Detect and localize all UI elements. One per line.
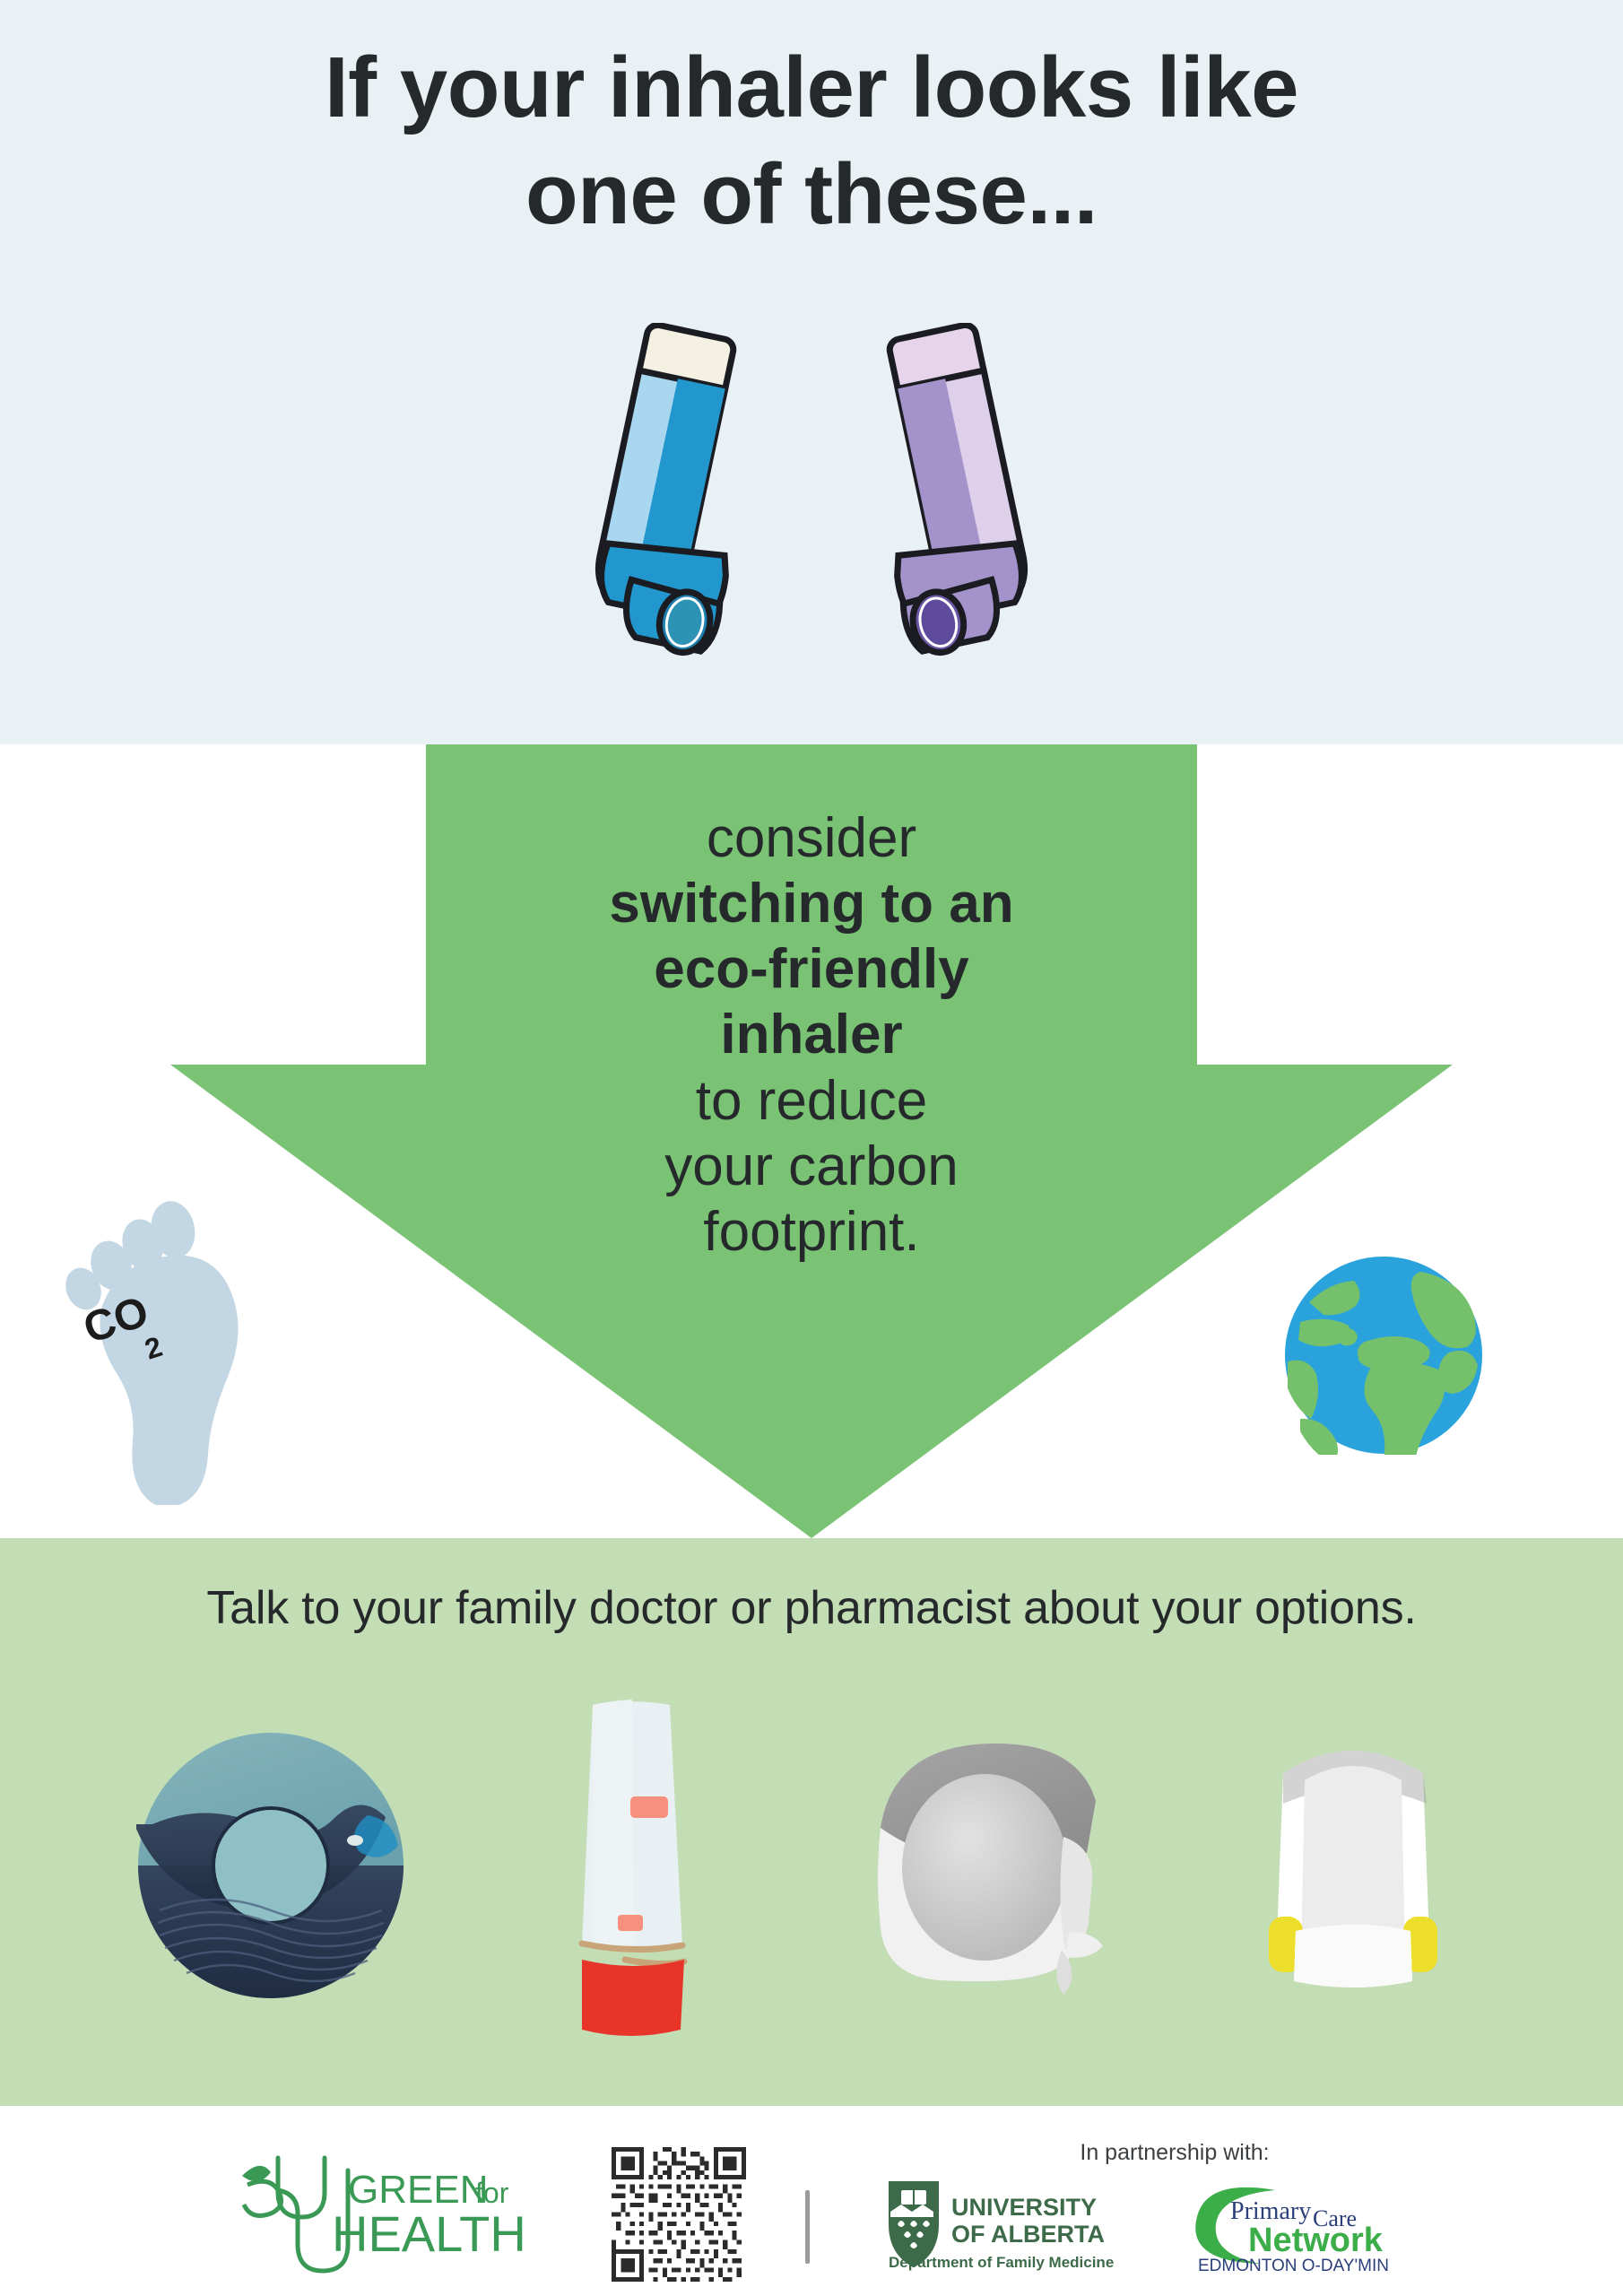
earth-globe-icon [1284, 1256, 1483, 1455]
page-title-line1: If your inhaler looks like [0, 34, 1623, 141]
blue-metered-dose-inhaler-icon [543, 323, 785, 673]
diskus-inhaler-icon [857, 1722, 1126, 2009]
dpi-cell-2 [483, 1655, 779, 2076]
poster-root: If your inhaler looks like one of these.… [0, 0, 1623, 2296]
arrow-line-5: to reduce [516, 1068, 1107, 1134]
mdi-inhaler-group [0, 323, 1623, 709]
gfh-word-for: for [475, 2177, 509, 2209]
page-title: If your inhaler looks like one of these.… [0, 34, 1623, 248]
arrow-line-1: consider [516, 805, 1107, 871]
arrow-line-7: footprint. [516, 1199, 1107, 1265]
gfh-word-health: HEALTH [332, 2205, 526, 2262]
partnership-label: In partnership with: [861, 2140, 1488, 2166]
ellipta-disc-inhaler-icon [136, 1731, 405, 2000]
dpi-cell-1 [123, 1655, 419, 2076]
qr-code[interactable] [612, 2147, 746, 2282]
purple-metered-dose-inhaler-icon [838, 323, 1080, 673]
arrow-line-6: your carbon [516, 1134, 1107, 1199]
advice-text: Talk to your family doctor or pharmacist… [0, 1581, 1623, 1635]
ua-line2: OF ALBERTA [951, 2221, 1105, 2248]
arrow-line-2: switching to an [516, 871, 1107, 936]
header-section: If your inhaler looks like one of these.… [0, 0, 1623, 744]
green-for-health-logo[interactable]: GREEN for HEALTH [213, 2151, 554, 2276]
university-of-alberta-logo[interactable]: UNIVERSITY OF ALBERTA Department of Fami… [881, 2178, 1141, 2274]
dpi-cell-3 [844, 1655, 1140, 2076]
ua-line1: UNIVERSITY [951, 2194, 1097, 2221]
arrow-line-4: inhaler [516, 1002, 1107, 1067]
arrow-message: consider switching to an eco-friendly in… [516, 805, 1107, 1265]
page-title-line2: one of these... [0, 141, 1623, 248]
arrow-line-3: eco-friendly [516, 936, 1107, 1002]
genuair-inhaler-icon [1256, 1718, 1449, 2013]
dpi-cell-4 [1204, 1655, 1500, 2076]
ua-line3: Department of Family Medicine [889, 2254, 1114, 2271]
pcn-word-network: Network [1248, 2222, 1384, 2259]
pcn-subtitle: EDMONTON O-DAY'MIN [1198, 2257, 1389, 2275]
turbuhaler-inhaler-icon [553, 1691, 710, 2040]
co2-footprint-icon: CO 2 [56, 1182, 253, 1505]
dry-powder-inhaler-group [0, 1655, 1623, 2076]
primary-care-network-logo[interactable]: Primary Care Network EDMONTON O-DAY'MIN [1187, 2179, 1420, 2278]
footer-divider [805, 2190, 810, 2264]
